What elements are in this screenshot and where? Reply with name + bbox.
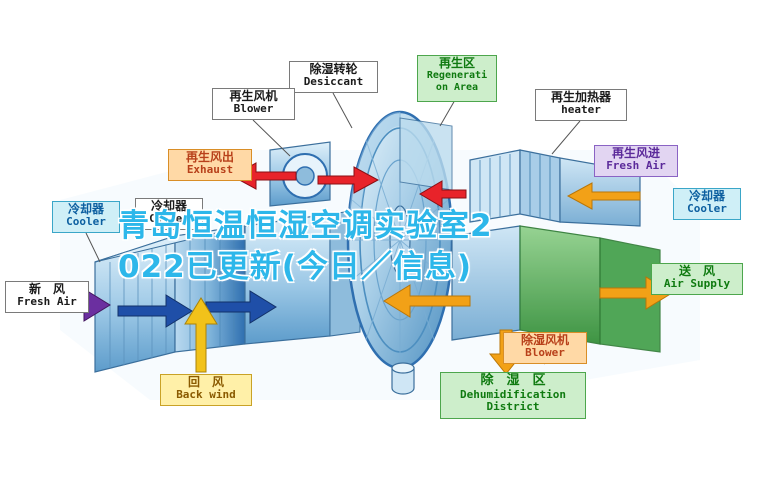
- label-exhaust: 再生风出 Exhaust: [168, 149, 252, 181]
- label-cooler-left-1: 冷却器 Cooler: [52, 201, 120, 233]
- label-fresh-air: 新 风 Fresh Air: [5, 281, 89, 313]
- drip-tray: [392, 363, 414, 394]
- label-cooler-right: 冷却器 Cooler: [673, 188, 741, 220]
- label-air-supply: 送 风 Air Supply: [651, 263, 743, 295]
- label-dehumidification-blower: 除湿风机 Blower: [503, 332, 587, 364]
- watermark-line-1: 青岛恒温恒湿空调实验室2: [118, 206, 658, 247]
- label-desiccant-wheel: 除湿转轮 Desiccant: [289, 61, 378, 93]
- label-regeneration-blower: 再生风机 Blower: [212, 88, 295, 120]
- label-back-wind: 回 风 Back wind: [160, 374, 252, 406]
- label-regeneration-inlet: 再生风进 Fresh Air: [594, 145, 678, 177]
- diagram-canvas: 除湿转轮 Desiccant 再生风机 Blower 再生区 Regenerat…: [0, 0, 757, 488]
- watermark-text: 青岛恒温恒湿空调实验室2 022已更新(今日／信息): [118, 206, 658, 288]
- label-dehumidification-district: 除 湿 区 Dehumidification District: [440, 372, 586, 419]
- watermark-line-2: 022已更新(今日／信息): [118, 247, 658, 288]
- label-regeneration-area: 再生区 Regenerati on Area: [417, 55, 497, 102]
- label-regeneration-heater: 再生加热器 heater: [535, 89, 627, 121]
